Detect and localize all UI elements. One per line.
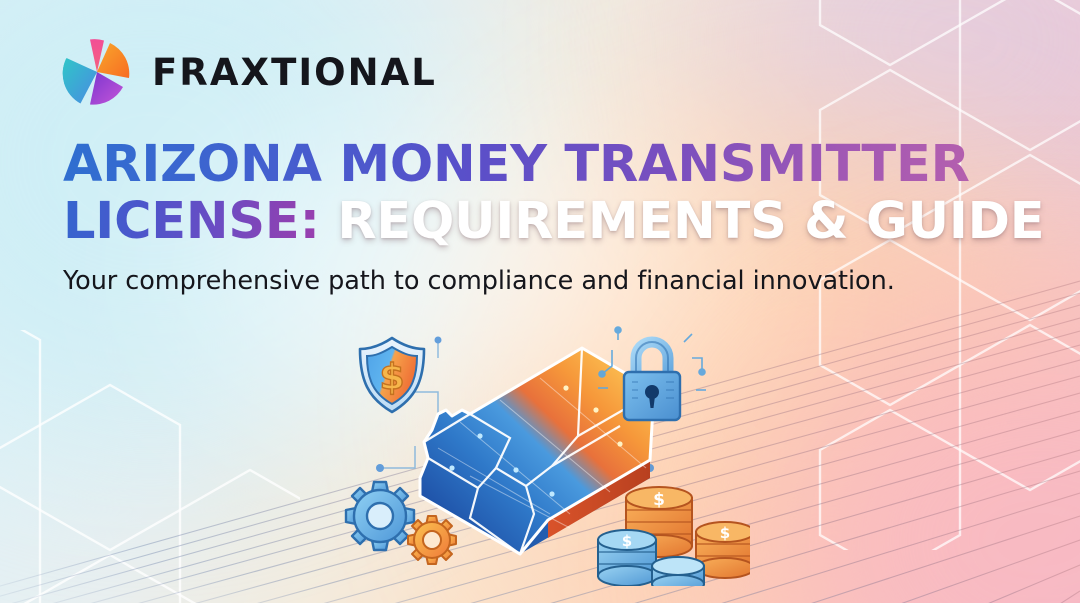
svg-text:$: $ (720, 524, 730, 542)
headline-accent-text: LICENSE: (63, 192, 320, 251)
svg-text:$: $ (622, 532, 632, 550)
svg-text:$: $ (379, 357, 404, 398)
headline-line-1-text: ARIZONA MONEY TRANSMITTER (63, 135, 970, 194)
page-title: ARIZONA MONEY TRANSMITTER LICENSE: REQUI… (63, 136, 1043, 250)
headline-line-1: ARIZONA MONEY TRANSMITTER (63, 136, 1043, 193)
arizona-map-3d (420, 348, 654, 554)
page-subtitle: Your comprehensive path to compliance an… (63, 264, 895, 298)
brand-logo[interactable]: FRAXTIONAL (57, 34, 437, 110)
coin-stacks-icon: $ $ (598, 487, 750, 586)
shield-dollar-icon: $ (360, 338, 424, 412)
headline-plain-text: REQUIREMENTS & GUIDE (337, 192, 1044, 251)
hero-banner: FRAXTIONAL ARIZONA MONEY TRANSMITTER LIC… (0, 0, 1080, 603)
hero-illustration: $ (320, 318, 750, 586)
pinwheel-segments-logo-icon (57, 34, 135, 110)
background-bloom-pink (760, 300, 1080, 603)
svg-text:$: $ (653, 490, 665, 510)
brand-wordmark: FRAXTIONAL (152, 54, 437, 91)
headline-line-2: LICENSE: REQUIREMENTS & GUIDE (63, 193, 1043, 250)
